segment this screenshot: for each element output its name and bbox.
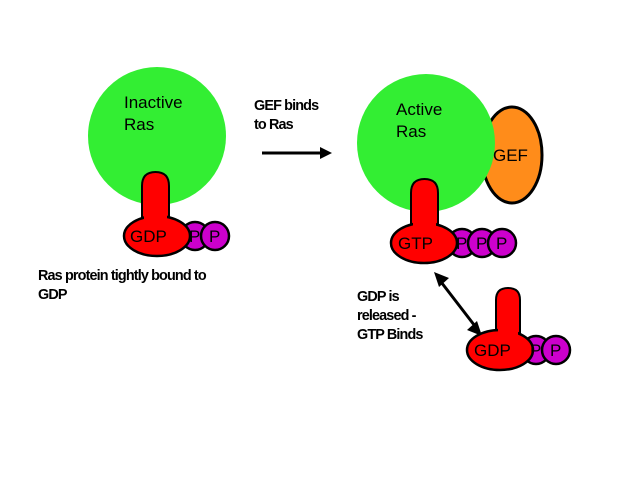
left-neck-fill (144, 200, 167, 224)
right-neck-fill (413, 207, 436, 231)
transition-caption: GEF binds to Ras (254, 96, 318, 134)
right-ras-complex (357, 74, 542, 263)
exchange-arrow (434, 272, 482, 336)
released-phosphate-circle-2 (542, 336, 570, 364)
transition-arrow-head (320, 147, 332, 159)
transition-arrow (262, 147, 332, 159)
released-neck-fill (498, 314, 518, 338)
right-note-caption: GDP is released - GTP Binds (357, 287, 423, 344)
right-phosphate-circle-3 (488, 229, 516, 257)
left-ras-complex (88, 67, 229, 256)
diagram-canvas: Inactive Ras GDP P P GEF binds to Ras Ac… (0, 0, 640, 480)
exchange-arrow-shaft (438, 278, 478, 330)
left-note-caption: Ras protein tightly bound to GDP (38, 266, 206, 304)
left-phosphate-circle-2 (201, 222, 229, 250)
released-gdp-complex (467, 288, 570, 370)
diagram-shapes (0, 0, 640, 480)
exchange-arrow-head-up (434, 272, 449, 287)
